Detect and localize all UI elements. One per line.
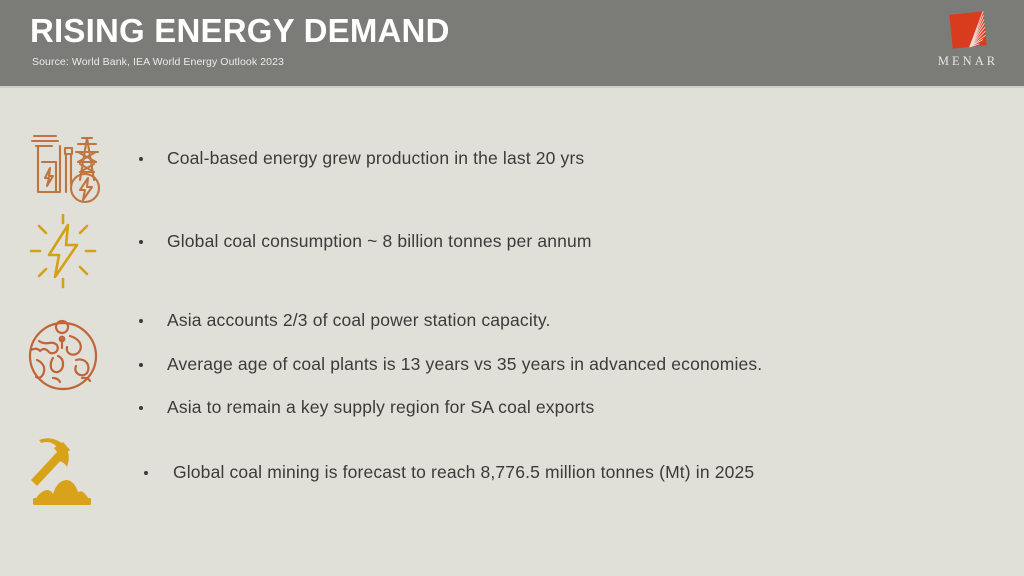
list-item: Global coal consumption ~ 8 billion tonn… [133, 233, 984, 251]
bullet-marker [139, 157, 143, 161]
bullet-marker [139, 240, 143, 244]
menar-logo-text: MENAR [930, 54, 1006, 69]
lightning-bolt-rays-icon [18, 205, 108, 295]
bullet-marker [139, 363, 143, 367]
bullet-text: Global coal consumption ~ 8 billion tonn… [167, 231, 592, 251]
list-item: Global coal mining is forecast to reach … [133, 464, 984, 482]
list-item: Asia to remain a key supply region for S… [133, 399, 984, 417]
bullet-list-1: Coal-based energy grew production in the… [133, 150, 984, 168]
slide: RISING ENERGY DEMAND Source: World Bank,… [0, 0, 1024, 576]
page-title: RISING ENERGY DEMAND [30, 14, 450, 49]
bullet-list-2: Global coal consumption ~ 8 billion tonn… [133, 233, 984, 251]
bullet-text: Coal-based energy grew production in the… [167, 148, 584, 168]
menar-logo-mark-icon [946, 8, 990, 52]
header-divider [0, 86, 1024, 88]
globe-location-icon [18, 312, 108, 402]
bullet-list-4: Global coal mining is forecast to reach … [133, 464, 984, 482]
source-caption: Source: World Bank, IEA World Energy Out… [32, 56, 284, 68]
bullet-marker [144, 471, 148, 475]
list-item: Asia accounts 2/3 of coal power station … [133, 312, 984, 330]
bullet-text: Asia accounts 2/3 of coal power station … [167, 310, 550, 330]
bullet-marker [139, 406, 143, 410]
list-item: Average age of coal plants is 13 years v… [133, 356, 984, 374]
slide-header: RISING ENERGY DEMAND Source: World Bank,… [0, 0, 1024, 86]
bullet-text: Average age of coal plants is 13 years v… [167, 354, 762, 374]
power-plant-icon [18, 122, 108, 212]
bullet-text: Global coal mining is forecast to reach … [173, 462, 754, 482]
bullet-list-3: Asia accounts 2/3 of coal power station … [133, 312, 984, 417]
bullet-marker [139, 319, 143, 323]
menar-logo: MENAR [930, 8, 1006, 76]
bullet-text: Asia to remain a key supply region for S… [167, 397, 594, 417]
pickaxe-mining-icon [18, 428, 108, 518]
list-item: Coal-based energy grew production in the… [133, 150, 984, 168]
